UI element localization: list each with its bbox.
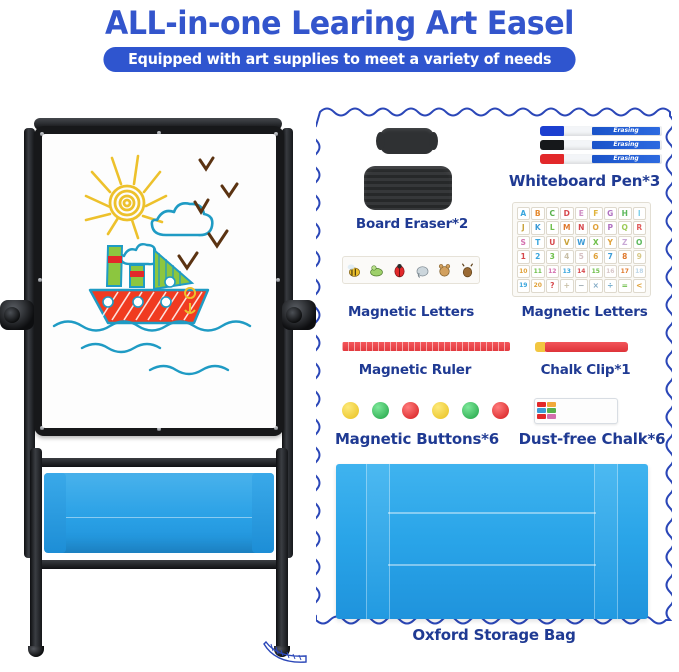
- label-magnetic-ruler: Magnetic Ruler: [330, 362, 500, 378]
- letter-tile: X: [589, 236, 603, 250]
- bag-seam: [388, 512, 596, 514]
- letter-tile: 7: [604, 250, 618, 264]
- letter-tile: 10: [517, 265, 531, 279]
- frog-icon: [368, 262, 385, 279]
- letter-grid-row: 123456789: [516, 250, 647, 265]
- art-easel: [8, 118, 308, 666]
- magnetic-button: [372, 402, 389, 419]
- label-magnetic-letters-grid: Magnetic Letters: [502, 304, 667, 320]
- frame-screw: [276, 278, 280, 282]
- label-chalk-clip: Chalk Clip*1: [508, 362, 663, 378]
- letter-tile: 5: [575, 250, 589, 264]
- letter-tile: −: [575, 279, 589, 293]
- pen-brand-label: Erasing: [592, 127, 660, 135]
- label-dust-free-chalk: Dust-free Chalk*6: [512, 430, 672, 448]
- easel-crossbar-bottom: [32, 560, 284, 569]
- tray-end-left: [44, 473, 66, 553]
- letter-tile: +: [560, 279, 574, 293]
- letter-tile: 17: [618, 265, 632, 279]
- letter-tile: 2: [531, 250, 545, 264]
- easel-leg-left: [30, 448, 42, 653]
- letter-tile: D: [560, 207, 574, 221]
- subtitle-container: Equipped with art supplies to meet a var…: [0, 47, 679, 72]
- letter-tile: J: [517, 221, 531, 235]
- oxford-storage-bag: [336, 464, 648, 619]
- chalk-stick: [547, 402, 556, 407]
- pen-brand-label: Erasing: [592, 155, 660, 163]
- pen-brand-label: Erasing: [592, 141, 660, 149]
- decorative-scallop: [263, 638, 309, 664]
- whiteboard-surface: [42, 134, 276, 428]
- whiteboard-pen-blue: Erasing: [562, 126, 662, 136]
- letter-tile: C: [546, 207, 560, 221]
- bird-icon: [179, 158, 237, 268]
- whiteboard-frame: [34, 126, 284, 436]
- letter-tile: N: [575, 221, 589, 235]
- letter-tile: 4: [560, 250, 574, 264]
- letter-tile: 6: [589, 250, 603, 264]
- whiteboard-pen-black: Erasing: [562, 140, 662, 150]
- letter-tile: ÷: [604, 279, 618, 293]
- label-magnetic-buttons: Magnetic Buttons*6: [322, 430, 512, 448]
- pen-cap-black: [540, 140, 564, 150]
- letter-tile: O: [589, 221, 603, 235]
- chalk-stick: [537, 414, 546, 419]
- moose-icon: [459, 262, 476, 279]
- board-eraser-small: [380, 128, 434, 154]
- letter-tile: F: [589, 207, 603, 221]
- letter-tile: Q: [618, 221, 632, 235]
- bag-strap-right: [594, 464, 618, 619]
- letter-tile: Z: [618, 236, 632, 250]
- bag-seam: [388, 564, 596, 566]
- label-oxford-storage-bag: Oxford Storage Bag: [394, 626, 594, 644]
- bag-strap-left: [366, 464, 390, 619]
- magnetic-letters-animals: [342, 256, 480, 284]
- letter-tile: L: [546, 221, 560, 235]
- letter-tile: W: [575, 236, 589, 250]
- label-magnetic-letters-animals: Magnetic Letters: [326, 304, 496, 320]
- letter-tile: K: [531, 221, 545, 235]
- tray-end-right: [252, 473, 274, 553]
- magnetic-button: [462, 402, 479, 419]
- letter-tile: <: [633, 279, 647, 293]
- letter-grid-row: STUVWXYZO: [516, 235, 647, 250]
- chalk-clip-tip: [535, 342, 545, 352]
- letter-tile: 9: [633, 250, 647, 264]
- dust-free-chalk-box: [534, 398, 618, 424]
- letter-tile: A: [517, 207, 531, 221]
- letter-tile: Y: [604, 236, 618, 250]
- letter-tile: O: [633, 236, 647, 250]
- letter-tile: 11: [531, 265, 545, 279]
- board-eraser-large: [364, 166, 452, 210]
- magnetic-button: [432, 402, 449, 419]
- letter-tile: V: [560, 236, 574, 250]
- letter-tile: 12: [546, 265, 560, 279]
- letter-tile: 8: [618, 250, 632, 264]
- letter-tile: 3: [546, 250, 560, 264]
- page-title: ALL-in-one Learing Art Easel: [20, 4, 658, 42]
- wave-line: [54, 322, 250, 375]
- letter-tile: M: [560, 221, 574, 235]
- letter-grid-row: JKLMNOPQR: [516, 221, 647, 236]
- chalk-stick: [547, 408, 556, 413]
- letter-tile: 19: [517, 279, 531, 293]
- letter-grid-row: 101112131415161718: [516, 264, 647, 279]
- letter-tile: H: [618, 207, 632, 221]
- chalk-clip: [544, 342, 628, 352]
- letter-tile: ?: [546, 279, 560, 293]
- letter-tile: E: [575, 207, 589, 221]
- height-adjust-knob-right[interactable]: [282, 300, 316, 330]
- bee-icon: [346, 262, 363, 279]
- height-adjust-knob-left[interactable]: [0, 300, 34, 330]
- product-infographic: ALL-in-one Learing Art Easel Equipped wi…: [0, 0, 679, 672]
- easel-foot-left: [28, 646, 44, 657]
- letter-tile: ×: [589, 279, 603, 293]
- letter-tile: 18: [633, 265, 647, 279]
- letter-tile: 15: [589, 265, 603, 279]
- letter-tile: T: [531, 236, 545, 250]
- easel-fabric-tray: [44, 473, 274, 553]
- magnetic-ruler: [342, 342, 510, 351]
- letter-tile: 1: [517, 250, 531, 264]
- magnetic-button: [342, 402, 359, 419]
- easel-leg-right: [276, 448, 288, 653]
- letter-grid-row: ABCDEFGHI: [516, 206, 647, 221]
- letter-tile: 16: [604, 265, 618, 279]
- chalk-stick: [537, 402, 546, 407]
- label-whiteboard-pen: Whiteboard Pen*3: [502, 172, 667, 190]
- letter-tile: P: [604, 221, 618, 235]
- chalk-stick: [547, 414, 556, 419]
- elephant-icon: [414, 262, 431, 279]
- ladybug-icon: [391, 262, 408, 279]
- whiteboard-pen-red: Erasing: [562, 154, 662, 164]
- magnetic-letters-grid: ABCDEFGHIJKLMNOPQRSTUVWXYZO1234567891011…: [512, 202, 651, 297]
- letter-tile: U: [546, 236, 560, 250]
- letter-tile: B: [531, 207, 545, 221]
- pen-cap-blue: [540, 126, 564, 136]
- label-board-eraser: Board Eraser*2: [332, 216, 492, 232]
- magnetic-button: [492, 402, 509, 419]
- letter-tile: I: [633, 207, 647, 221]
- letter-tile: G: [604, 207, 618, 221]
- magnetic-button: [402, 402, 419, 419]
- magnetic-buttons-group: [342, 402, 512, 422]
- letter-tile: 14: [575, 265, 589, 279]
- letter-tile: 13: [560, 265, 574, 279]
- chalk-stick: [537, 408, 546, 413]
- accessories-panel: Board Eraser*2 Erasing Erasing Erasing W…: [316, 104, 672, 664]
- child-drawing: [42, 134, 276, 428]
- pen-cap-red: [540, 154, 564, 164]
- subtitle-pill: Equipped with art supplies to meet a var…: [103, 47, 576, 72]
- bear-icon: [436, 262, 453, 279]
- boat-icon: [90, 246, 208, 323]
- easel-crossbar-top: [32, 458, 284, 467]
- letter-tile: R: [633, 221, 647, 235]
- letter-tile: 20: [531, 279, 545, 293]
- letter-grid-row: 1920?+−×÷=<: [516, 279, 647, 294]
- letter-tile: =: [618, 279, 632, 293]
- letter-tile: S: [517, 236, 531, 250]
